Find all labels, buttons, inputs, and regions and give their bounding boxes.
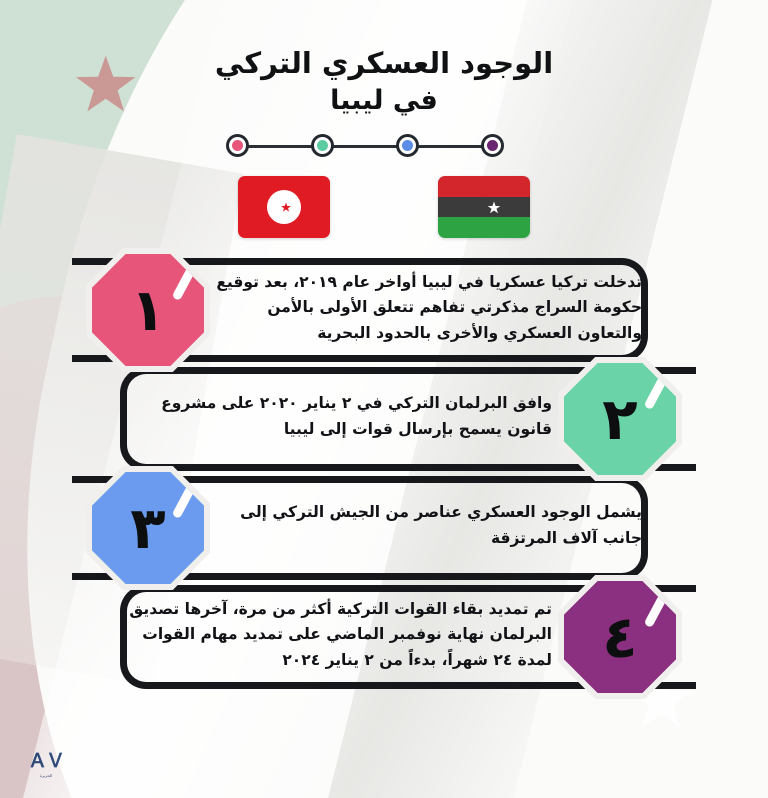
step-text-3: يشمل الوجود العسكري عناصر من الجيش الترك… <box>216 478 642 574</box>
step-badge-4[interactable]: ٤ <box>564 581 676 693</box>
steps-list: ١ تدخلت تركيا عسكريا في ليبيا أواخر عام … <box>0 252 768 688</box>
publisher-logo: ＡＶ الجزيرة <box>14 744 78 786</box>
timeline-bar <box>236 145 494 148</box>
step-badge-1[interactable]: ١ <box>92 254 204 366</box>
infographic-canvas: الوجود العسكري التركي في ليبيا <box>0 0 768 798</box>
step-number-1: ١ <box>130 281 165 339</box>
step-number-2: ٢ <box>602 390 637 448</box>
timeline-dot-2[interactable] <box>311 134 334 157</box>
step-text-1: تدخلت تركيا عسكريا في ليبيا أواخر عام ٢٠… <box>216 260 642 356</box>
step-number-4: ٤ <box>602 608 637 666</box>
step-badge-3[interactable]: ٣ <box>92 472 204 584</box>
flag-libya <box>438 176 530 238</box>
flag-turkey <box>238 176 330 238</box>
logo-monogram: ＡＶ <box>28 752 64 771</box>
step-number-3: ٣ <box>130 499 165 557</box>
step-text-4: تم تمديد بقاء القوات التركية أكثر من مرة… <box>126 587 552 683</box>
title-line-1: الوجود العسكري التركي <box>0 44 768 83</box>
step-row-2: ٢ وافق البرلمان التركي في ٢ يناير ٢٠٢٠ ع… <box>0 361 768 470</box>
step-text-2: وافق البرلمان التركي في ٢ يناير ٢٠٢٠ على… <box>126 369 552 465</box>
timeline-dot-1[interactable] <box>226 134 249 157</box>
page-title: الوجود العسكري التركي في ليبيا <box>0 44 768 118</box>
timeline-dot-4[interactable] <box>481 134 504 157</box>
title-line-2: في ليبيا <box>0 83 768 119</box>
timeline-dot-3[interactable] <box>396 134 419 157</box>
flag-libya-stripe-green <box>438 217 530 238</box>
step-badge-2[interactable]: ٢ <box>564 363 676 475</box>
timeline-track <box>226 134 504 158</box>
step-row-4: ٤ تم تمديد بقاء القوات التركية أكثر من م… <box>0 579 768 688</box>
step-row-3: ٣ يشمل الوجود العسكري عناصر من الجيش الت… <box>0 470 768 579</box>
step-row-1: ١ تدخلت تركيا عسكريا في ليبيا أواخر عام … <box>0 252 768 361</box>
flag-row <box>0 176 768 238</box>
logo-caption: الجزيرة <box>40 773 53 778</box>
